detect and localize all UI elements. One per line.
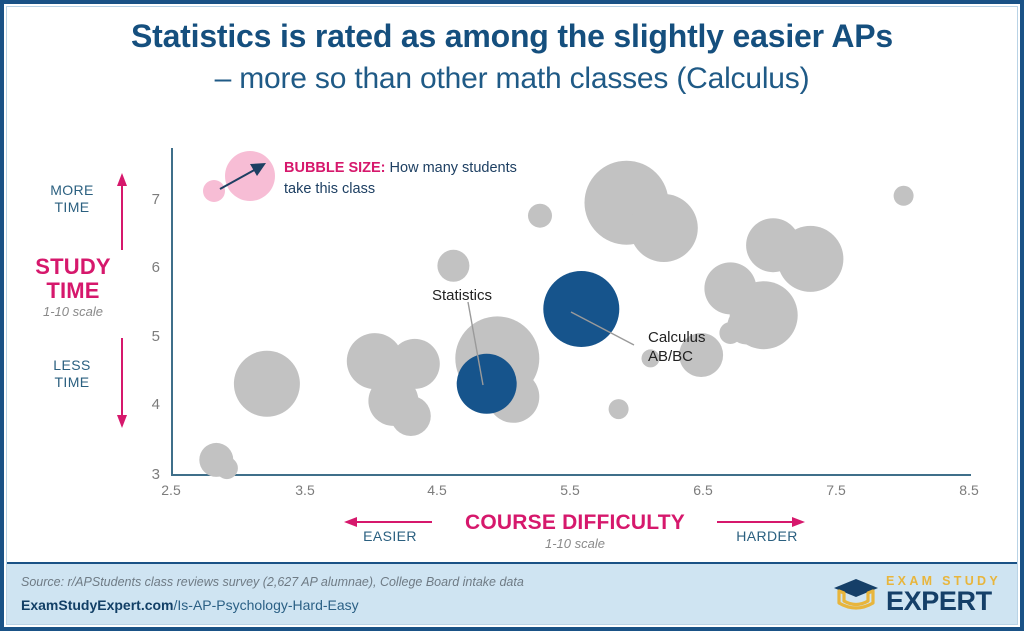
y-axis-title-line-2: TIME [8, 279, 138, 303]
footer-band: Source: r/APStudents class reviews surve… [7, 562, 1017, 624]
x-axis-easier-label: EASIER [335, 528, 445, 545]
footer-source-text: Source: r/APStudents class reviews surve… [21, 575, 524, 589]
x-tick-3-5: 3.5 [280, 482, 330, 498]
y-axis-title-line-1: STUDY [8, 255, 138, 279]
x-tick-4-5: 4.5 [412, 482, 462, 498]
callout-calculus-line-1: Calculus [648, 329, 758, 348]
bubble [777, 226, 843, 292]
y-axis-title: STUDY TIME 1-10 scale [8, 255, 138, 319]
harder-text: HARDER [712, 528, 822, 545]
bubble [437, 250, 469, 282]
bubble-size-legend-label: BUBBLE SIZE: [284, 160, 386, 176]
graduation-cap-icon [833, 576, 879, 614]
x-tick-5-5: 5.5 [545, 482, 595, 498]
y-axis-less-time-label: LESS TIME [18, 357, 126, 390]
bubble [894, 186, 914, 206]
footer-url-domain[interactable]: ExamStudyExpert.com [21, 597, 174, 613]
bubble [528, 204, 552, 228]
bubble [216, 457, 238, 479]
footer-url[interactable]: ExamStudyExpert.com/Is-AP-Psychology-Har… [21, 597, 359, 613]
x-axis-scale-note: 1-10 scale [430, 536, 720, 551]
bubble-statistics [457, 354, 517, 414]
x-tick-8-5: 8.5 [944, 482, 994, 498]
bubble [234, 351, 300, 417]
logo-wordmark: EXAM STUDY EXPERT [886, 575, 1001, 616]
y-tick-3: 3 [118, 466, 160, 483]
x-tick-7-5: 7.5 [811, 482, 861, 498]
x-tick-2-5: 2.5 [146, 482, 196, 498]
easier-text: EASIER [335, 528, 445, 545]
bubble-size-legend: BUBBLE SIZE: How many students take this… [284, 158, 534, 200]
infographic-page: Statistics is rated as among the slightl… [0, 0, 1024, 631]
callout-statistics-text: Statistics [432, 287, 492, 304]
x-axis-title-text: COURSE DIFFICULTY [430, 512, 720, 535]
logo-bottom-text: EXPERT [886, 588, 1001, 615]
x-tick-6-5: 6.5 [678, 482, 728, 498]
callout-statistics: Statistics [432, 287, 492, 306]
callout-calculus-line-2: AB/BC [648, 348, 758, 367]
brand-logo: EXAM STUDY EXPERT [833, 572, 1001, 618]
more-time-line-2: TIME [18, 199, 126, 216]
bubble [609, 399, 629, 419]
y-axis-scale-note: 1-10 scale [8, 304, 138, 319]
y-axis-more-time-label: MORE TIME [18, 182, 126, 215]
more-time-line-1: MORE [18, 182, 126, 199]
bubble [391, 396, 431, 436]
y-tick-4: 4 [118, 396, 160, 413]
bubble-calculus-ab-bc [543, 271, 619, 347]
callout-calculus: Calculus AB/BC [648, 329, 758, 367]
x-axis-harder-label: HARDER [712, 528, 822, 545]
y-tick-5: 5 [118, 328, 160, 345]
x-axis-title: COURSE DIFFICULTY 1-10 scale [430, 512, 720, 551]
less-time-line-1: LESS [18, 357, 126, 374]
less-time-line-2: TIME [18, 374, 126, 391]
bubble [630, 194, 698, 262]
footer-url-path[interactable]: /Is-AP-Psychology-Hard-Easy [174, 597, 359, 613]
